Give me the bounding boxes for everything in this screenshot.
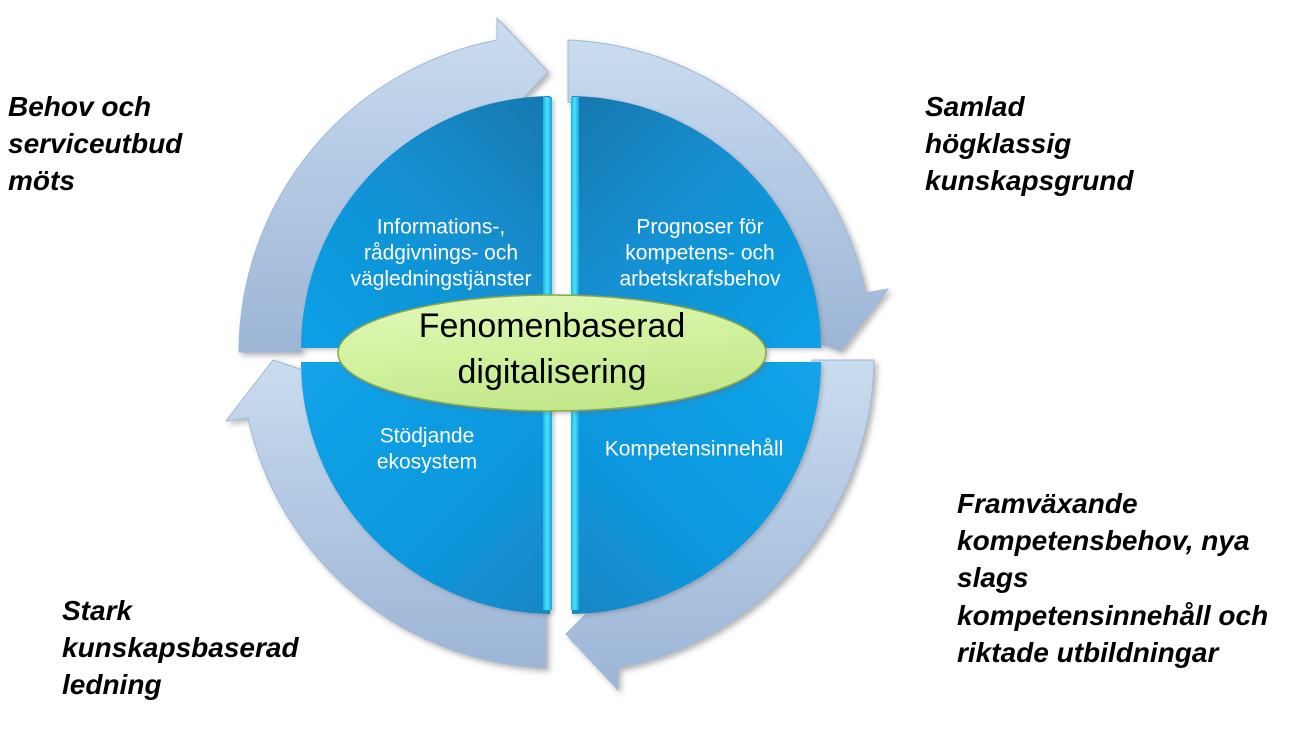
- center-label-line1: Fenomenbaserad: [419, 307, 686, 345]
- wedge-label-top-right-line1: Prognoser för: [636, 216, 763, 239]
- wedge-label-top-left-line3: vägledningstjänster: [351, 268, 532, 291]
- wedge-label-top-left-line2: rådgivnings- och: [364, 242, 518, 265]
- wedge-label-bottom-right-line1: Kompetensinnehåll: [605, 438, 784, 461]
- wedge-label-bottom-left-line1: Stödjande: [380, 425, 475, 448]
- side-label-top-right: Samlad högklassig kunskapsgrund: [925, 88, 1225, 200]
- cycle-diagram: Informations-, rådgivnings- och vägledni…: [0, 0, 1298, 727]
- wedge-label-top-left: Informations-, rådgivnings- och vägledni…: [351, 216, 532, 291]
- wedge-label-top-right: Prognoser för kompetens- och arbetskrafs…: [619, 216, 781, 291]
- side-label-bottom-right: Framväxande kompetensbehov, nya slags ko…: [957, 485, 1287, 671]
- wedge-label-top-right-line2: kompetens- och: [625, 242, 774, 265]
- wedge-label-top-left-line1: Informations-,: [377, 216, 505, 239]
- side-label-bottom-left: Stark kunskapsbaserad ledning: [62, 592, 342, 704]
- wedge-label-bottom-left-line2: ekosystem: [377, 451, 477, 474]
- center-label-line2: digitalisering: [458, 353, 647, 391]
- wedge-label-bottom-right: Kompetensinnehåll: [605, 438, 784, 461]
- wedge-label-top-right-line3: arbetskrafsbehov: [619, 268, 781, 291]
- side-label-top-left: Behov och serviceutbud möts: [8, 88, 258, 200]
- center-ellipse: Fenomenbaserad digitalisering: [338, 295, 766, 411]
